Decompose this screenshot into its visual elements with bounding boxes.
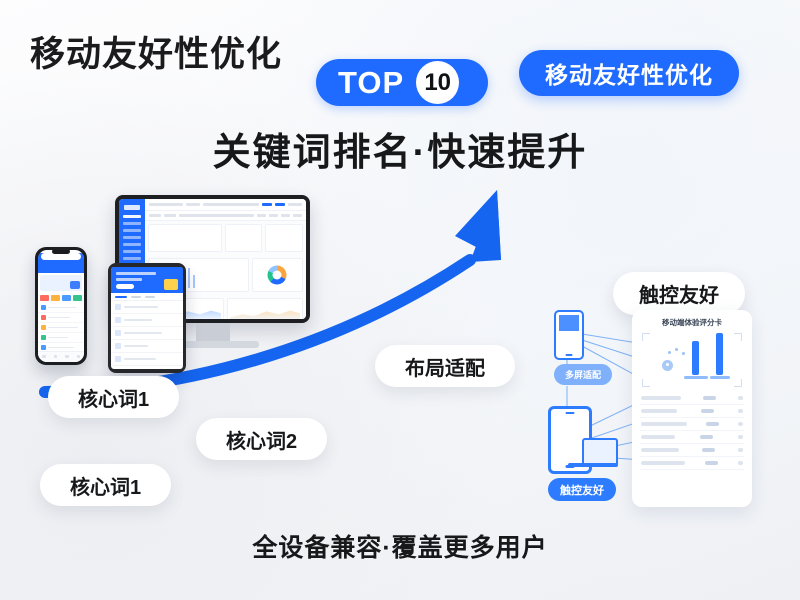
dashboard-nav-item	[123, 222, 141, 225]
device-mockups	[30, 195, 320, 375]
list-item	[38, 323, 84, 333]
dashboard-nav-item	[123, 236, 141, 239]
scorecard-chart	[640, 333, 744, 387]
mobile-experience-scorecard: 移动端体验评分卡	[632, 310, 752, 507]
promo-banner: 移动友好性优化 TOP 10 移动友好性优化 关键词排名·快速提升	[0, 0, 800, 600]
dashboard-donut-chart	[252, 258, 303, 292]
table-row	[640, 418, 744, 431]
phone-mockup	[35, 247, 87, 365]
scorecard-title: 移动端体验评分卡	[640, 317, 744, 328]
header-tag-pill: 移动友好性优化	[519, 50, 739, 96]
phone-notch	[52, 249, 70, 254]
tablet-cta-button	[116, 284, 134, 289]
table-row	[640, 444, 744, 457]
tablet-tabbar	[111, 293, 183, 301]
laptop-icon	[582, 438, 618, 466]
footer-caption: 全设备兼容·覆盖更多用户	[0, 528, 800, 564]
list-item	[38, 303, 84, 313]
dashboard-nav-item	[123, 243, 141, 246]
table-row	[640, 405, 744, 418]
small-phone-icon	[554, 310, 584, 360]
tablet-mockup	[108, 263, 186, 373]
monitor-neck	[196, 323, 230, 341]
table-row	[640, 457, 744, 470]
keyword-pill-2[interactable]: 核心词2	[196, 418, 327, 460]
dashboard-card	[148, 224, 222, 252]
phone-search-bar	[41, 253, 81, 260]
top-badge-word: TOP	[316, 67, 416, 98]
phone-promo-card	[40, 275, 82, 291]
keyword-pill-3[interactable]: 核心词1	[40, 464, 171, 506]
dashboard-card-row	[145, 221, 306, 255]
tablet-screen	[111, 267, 183, 369]
list-item	[111, 340, 183, 353]
multi-screen-pill[interactable]: 多屏适配	[554, 364, 612, 385]
tablet-hero-illustration	[164, 279, 178, 290]
touch-friendly-diagram-pill[interactable]: 触控友好	[548, 478, 616, 501]
dashboard-card	[265, 224, 303, 252]
phone-screen	[38, 250, 84, 362]
top-rank-badge: TOP 10	[316, 59, 488, 106]
dashboard-nav-item	[123, 229, 141, 232]
list-item	[38, 333, 84, 343]
dashboard-filterbar	[145, 211, 306, 221]
phone-icon-grid	[38, 293, 84, 303]
list-item	[111, 353, 183, 366]
dashboard-logo	[124, 205, 140, 210]
dashboard-area-chart	[227, 298, 303, 319]
location-pin-icon	[662, 360, 673, 371]
list-item	[111, 314, 183, 327]
phone-tabbar	[38, 351, 84, 362]
phone-header	[38, 253, 84, 273]
keyword-pill-1[interactable]: 核心词1	[48, 376, 179, 418]
page-title: 移动友好性优化	[30, 26, 282, 77]
dashboard-nav-item	[123, 250, 141, 253]
list-item	[38, 313, 84, 323]
keyword-pill-layout-adapt[interactable]: 布局适配	[375, 345, 515, 387]
table-row	[640, 392, 744, 405]
table-row	[640, 431, 744, 444]
top-badge-number: 10	[416, 61, 459, 104]
dashboard-nav-item	[123, 257, 141, 260]
dashboard-card	[225, 224, 263, 252]
list-item	[111, 366, 183, 369]
list-item	[111, 327, 183, 340]
dashboard-topbar	[145, 199, 306, 211]
tablet-hero-banner	[111, 267, 183, 293]
laptop-base	[568, 463, 618, 467]
dashboard-nav-item	[123, 215, 141, 218]
list-item	[111, 301, 183, 314]
